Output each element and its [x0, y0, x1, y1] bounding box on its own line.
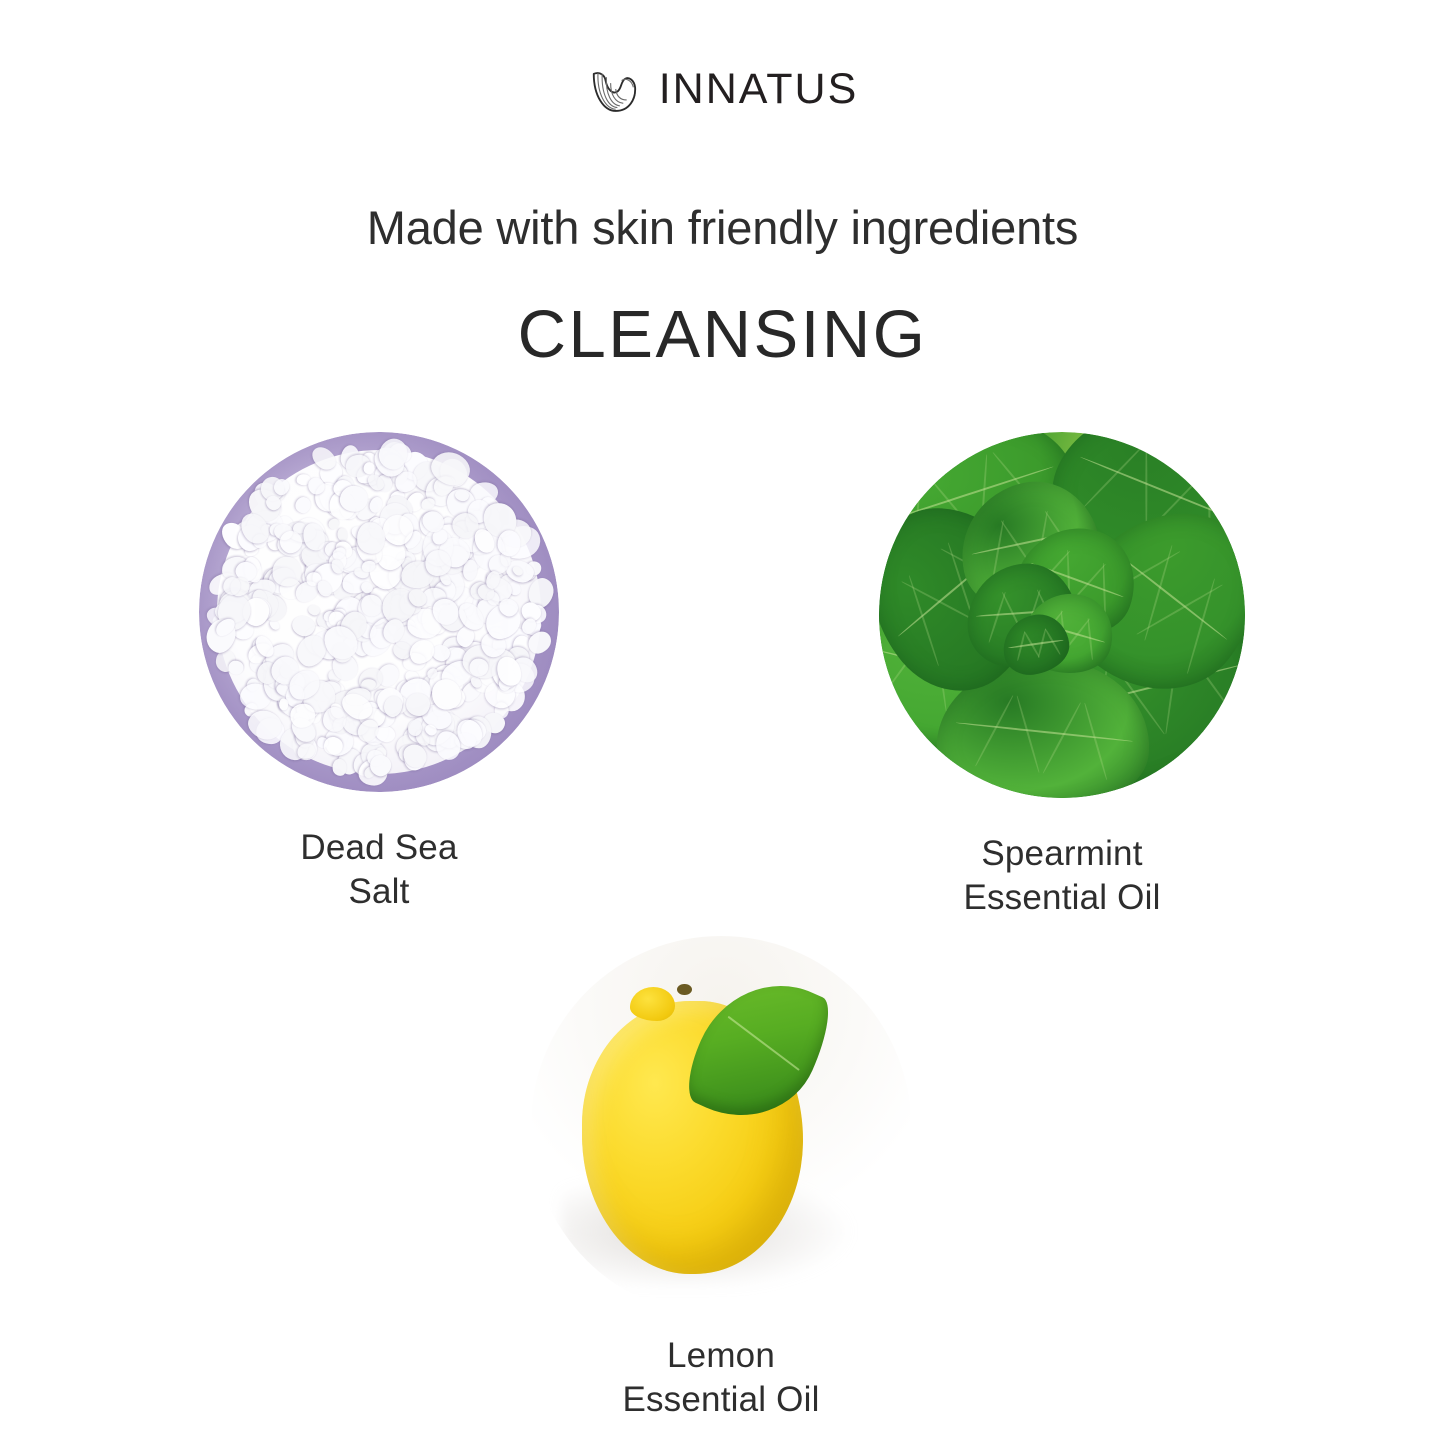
ingredient-label-dead-sea-salt: Dead Sea Salt	[193, 826, 565, 915]
ingredient-label-spearmint: Spearmint Essential Oil	[876, 832, 1248, 921]
leaf-shell-icon	[587, 62, 641, 116]
lemon-fruit-image	[531, 936, 911, 1316]
dead-sea-salt-bowl-image	[199, 432, 559, 792]
ingredient-label-line1: Spearmint	[876, 832, 1248, 876]
subheading: Made with skin friendly ingredients	[0, 200, 1445, 255]
ingredient-label-line2: Essential Oil	[531, 1378, 911, 1422]
ingredient-label-line1: Lemon	[531, 1334, 911, 1378]
ingredient-label-lemon: Lemon Essential Oil	[531, 1334, 911, 1423]
ingredient-lemon: Lemon Essential Oil	[531, 936, 911, 1423]
ingredient-infographic-page: INNATUS Made with skin friendly ingredie…	[0, 0, 1445, 1445]
ingredient-dead-sea-salt: Dead Sea Salt	[193, 432, 565, 915]
brand-name: INNATUS	[659, 68, 859, 111]
ingredient-spearmint: Spearmint Essential Oil	[876, 432, 1248, 921]
brand-lockup: INNATUS	[0, 62, 1445, 116]
ingredient-label-line2: Essential Oil	[876, 876, 1248, 920]
ingredient-label-line2: Salt	[193, 870, 565, 914]
spearmint-leaves-image	[879, 432, 1245, 798]
ingredient-label-line1: Dead Sea	[193, 826, 565, 870]
page-title: CLEANSING	[0, 296, 1445, 373]
